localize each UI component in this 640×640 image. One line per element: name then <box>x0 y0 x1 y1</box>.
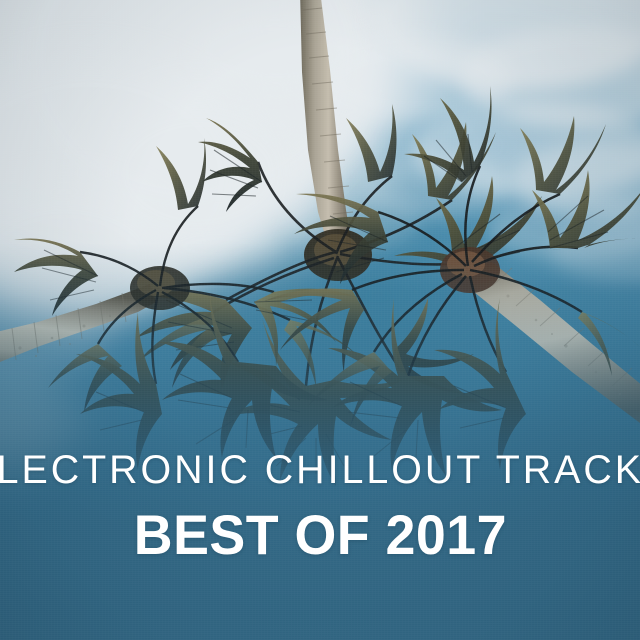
palm-trunk <box>466 262 640 438</box>
album-cover: ELECTRONIC CHILLOUT TRACKS BEST OF 2017 <box>0 0 640 640</box>
palm-tree-right <box>0 0 640 640</box>
